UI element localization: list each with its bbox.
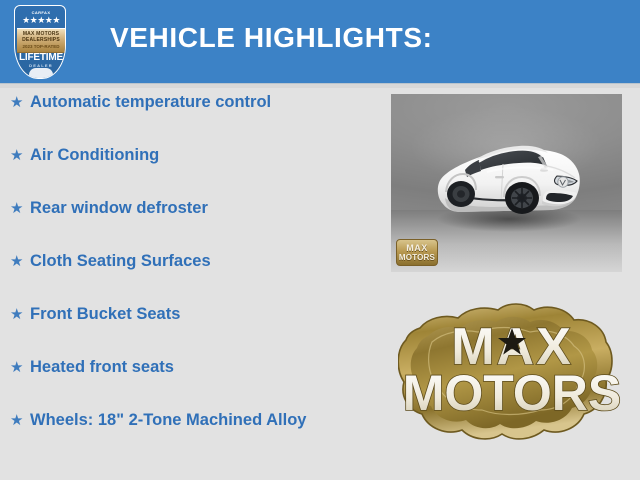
feature-label: Wheels: 18" 2-Tone Machined Alloy — [30, 410, 372, 431]
feature-label: Automatic temperature control — [30, 92, 372, 113]
max-motors-logo-art: MAX MOTORS — [398, 298, 626, 448]
max-motors-logo[interactable]: MAX MOTORS — [398, 298, 626, 448]
feature-label: Air Conditioning — [30, 145, 372, 166]
star-bullet-icon: ★ — [10, 410, 30, 432]
list-item: ★ Air Conditioning — [0, 145, 372, 198]
photo-watermark-logo: MAX MOTORS — [396, 239, 438, 266]
star-bullet-icon: ★ — [10, 92, 30, 114]
list-item: ★ Front Bucket Seats — [0, 304, 372, 357]
badge-dealer-subtitle: DEALERSHIPS — [17, 37, 65, 43]
badge-shield-shape: CARFAX ★★★★★ MAX MOTORS DEALERSHIPS 2023… — [14, 5, 66, 79]
carfax-top-rated-dealer-badge: CARFAX ★★★★★ MAX MOTORS DEALERSHIPS 2023… — [14, 5, 66, 79]
list-item: ★ Rear window defroster — [0, 198, 372, 251]
list-item: ★ Wheels: 18" 2-Tone Machined Alloy — [0, 410, 372, 463]
star-bullet-icon: ★ — [10, 198, 30, 220]
list-item: ★ Cloth Seating Surfaces — [0, 251, 372, 304]
feature-label: Rear window defroster — [30, 198, 372, 219]
star-bullet-icon: ★ — [10, 357, 30, 379]
feature-label: Front Bucket Seats — [30, 304, 372, 325]
feature-label: Heated front seats — [30, 357, 372, 378]
badge-ribbon: MAX MOTORS DEALERSHIPS 2023 TOP-RATED — [17, 28, 65, 53]
feature-label: Cloth Seating Surfaces — [30, 251, 372, 272]
watermark-line-2: MOTORS — [397, 253, 437, 262]
page-header: CARFAX ★★★★★ MAX MOTORS DEALERSHIPS 2023… — [0, 0, 640, 83]
logo-line-motors-text: MOTORS — [403, 365, 622, 421]
badge-year-rating: 2023 TOP-RATED — [17, 44, 65, 49]
vehicle-highlights-list: ★ Automatic temperature control ★ Air Co… — [0, 92, 372, 463]
list-item: ★ Heated front seats — [0, 357, 372, 410]
header-divider — [0, 83, 640, 88]
star-bullet-icon: ★ — [10, 145, 30, 167]
star-bullet-icon: ★ — [10, 251, 30, 273]
star-bullet-icon: ★ — [10, 304, 30, 326]
badge-lifetime-label: LIFETIME — [15, 52, 66, 63]
badge-car-icon — [29, 68, 53, 79]
list-item: ★ Automatic temperature control — [0, 92, 372, 145]
badge-stars-icon: ★★★★★ — [15, 16, 66, 25]
vehicle-photo[interactable]: MAX MOTORS — [391, 94, 622, 272]
watermark-line-1: MAX — [397, 243, 437, 253]
page-title: VEHICLE HIGHLIGHTS: — [110, 22, 433, 54]
vehicle-highlights-page: CARFAX ★★★★★ MAX MOTORS DEALERSHIPS 2023… — [0, 0, 640, 480]
